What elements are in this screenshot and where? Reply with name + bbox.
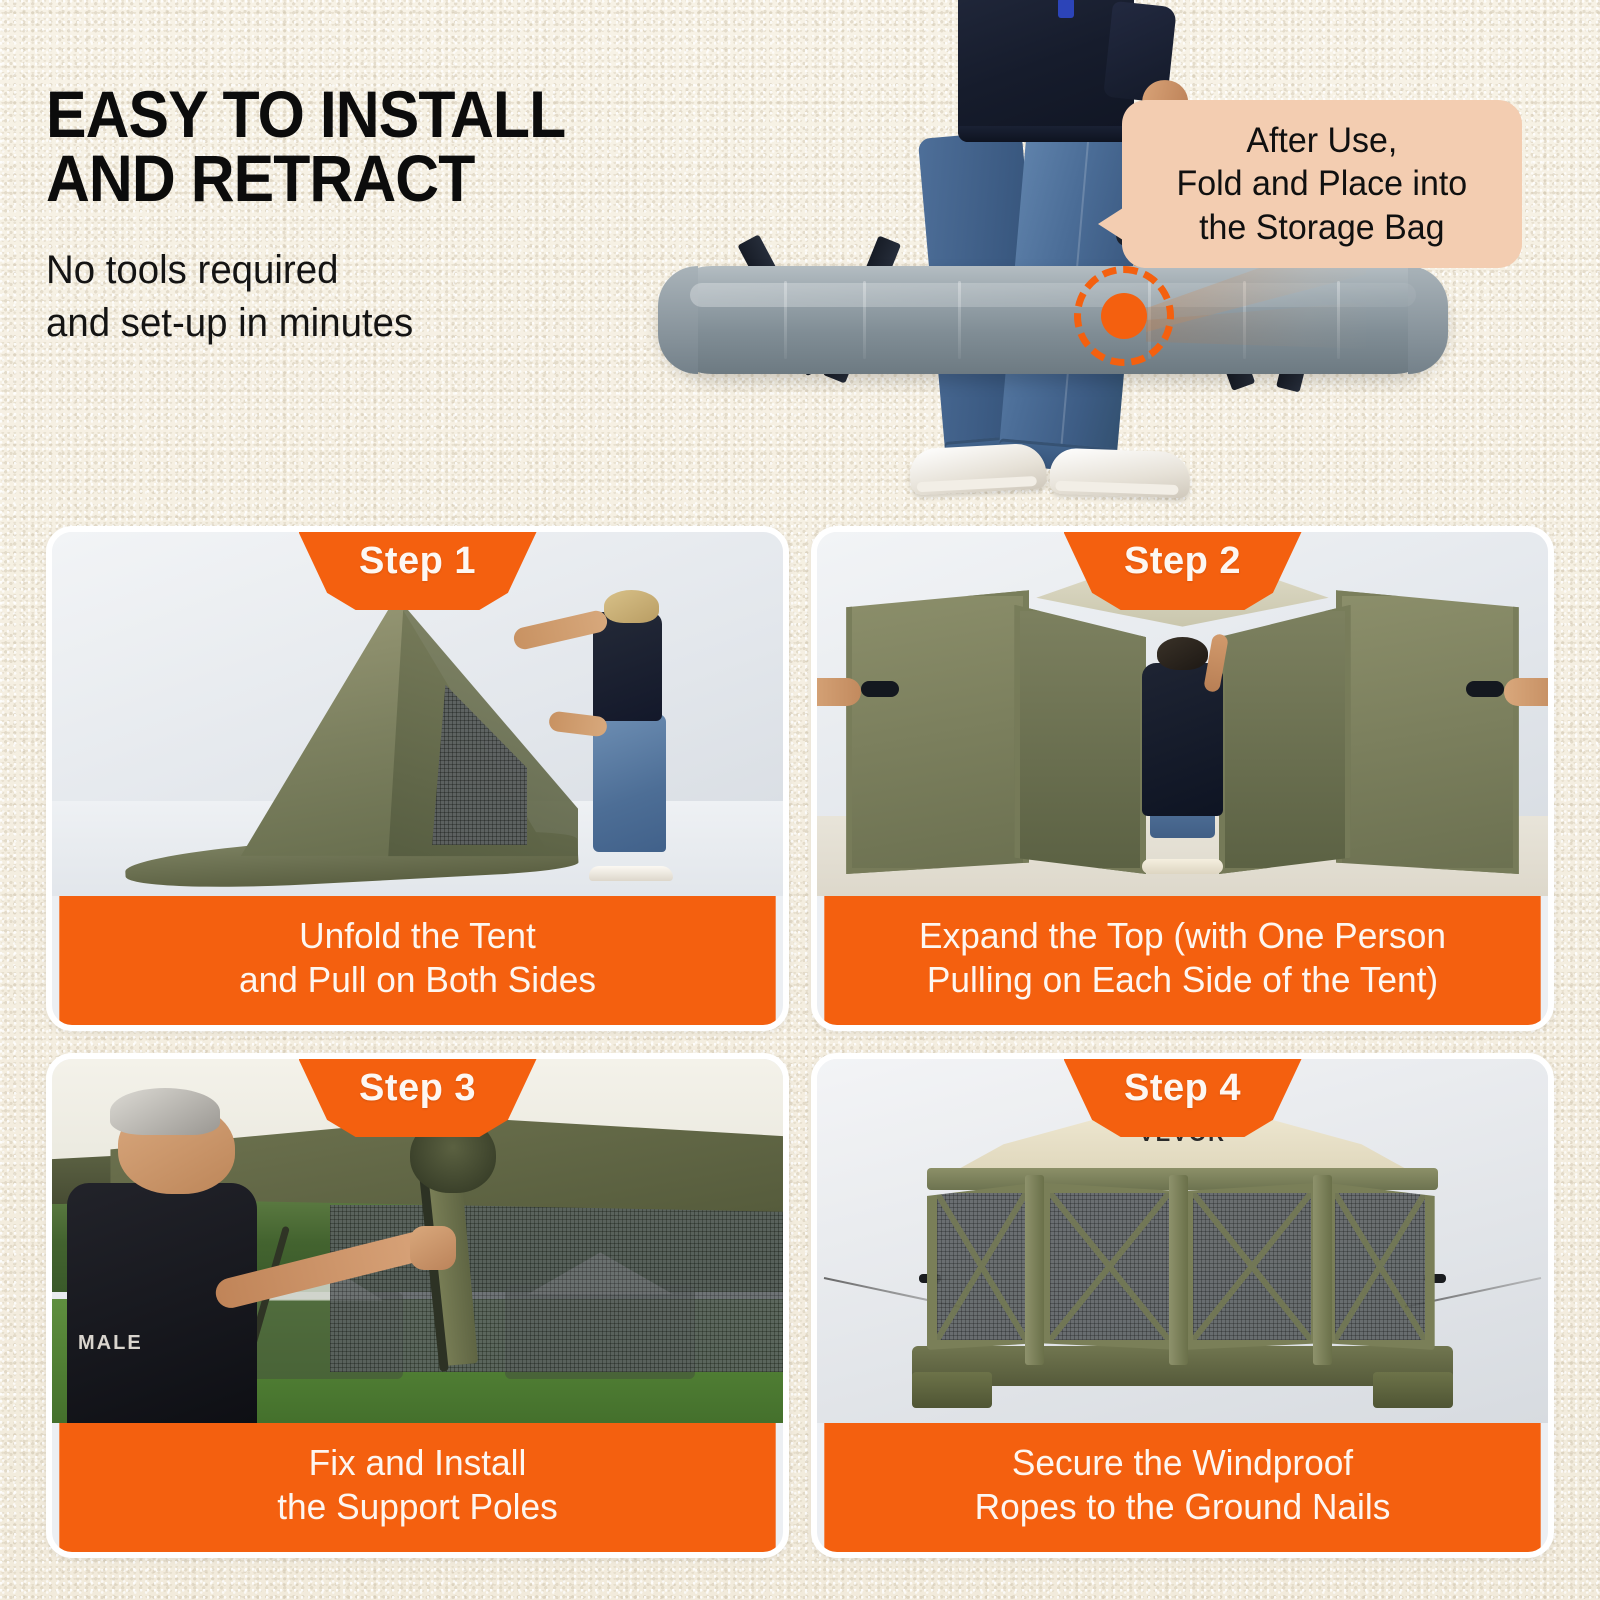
corner-post-mid [1169, 1175, 1188, 1364]
step-card-2[interactable]: Step 2 Expand the Top (with One Person P… [811, 526, 1554, 1031]
subhead-line-2: and set-up in minutes [46, 297, 756, 350]
step-3-caption-line-1: Fix and Install [77, 1441, 758, 1486]
infographic-page: EASY TO INSTALL AND RETRACT No tools req… [0, 0, 1600, 1600]
tent-pull-handle-right [1466, 681, 1504, 697]
callout-line-2: Fold and Place into [1177, 162, 1468, 205]
headline-line-2: AND RETRACT [46, 146, 727, 210]
shirt-logo-patch [1058, 0, 1074, 18]
callout-line-1: After Use, [1177, 119, 1468, 162]
step-card-3[interactable]: MALE Step 3 Fix and Install the Support … [46, 1053, 789, 1558]
tent-panel-left-outer [846, 590, 1029, 874]
person-head [1157, 637, 1208, 670]
wall-frame [927, 1183, 1037, 1350]
step-2-badge-label: Step 2 [1124, 540, 1241, 583]
bag-end-right [1408, 266, 1448, 374]
step-4-caption-line-2: Ropes to the Ground Nails [842, 1485, 1523, 1530]
shirt-text: MALE [78, 1332, 143, 1355]
tent-wall-4 [1325, 1183, 1435, 1350]
step-3-badge-label: Step 3 [359, 1067, 476, 1110]
tent-mesh-wall [330, 1205, 783, 1372]
person-shoes [589, 866, 673, 881]
tent-wall-1 [927, 1183, 1037, 1350]
step-1-photo: Step 1 [52, 532, 783, 896]
tent-wall-2 [1040, 1183, 1179, 1350]
sneaker-back [909, 442, 1047, 495]
corner-post-right [1313, 1175, 1332, 1364]
step-4-caption: Secure the Windproof Ropes to the Ground… [824, 1423, 1540, 1552]
wall-frame [1183, 1183, 1322, 1350]
headline-line-1: EASY TO INSTALL [46, 82, 727, 146]
person-hand-gripping-pole [410, 1226, 456, 1270]
subhead-line-1: No tools required [46, 244, 756, 297]
corner-post-left [1025, 1175, 1044, 1364]
tent-panel-right-outer [1336, 590, 1519, 874]
tent-pull-handle-left [861, 681, 899, 697]
step-3-caption: Fix and Install the Support Poles [59, 1423, 775, 1552]
step-3-caption-line-2: the Support Poles [77, 1485, 758, 1530]
bag-wrinkle [863, 281, 866, 359]
step-4-caption-line-1: Secure the Windproof [842, 1441, 1523, 1486]
tent-wall-3 [1183, 1183, 1322, 1350]
step-2-caption-line-2: Pulling on Each Side of the Tent) [842, 958, 1523, 1003]
bag-wrinkle [958, 281, 961, 359]
wall-frame [1325, 1183, 1435, 1350]
step-3-photo: MALE Step 3 [52, 1059, 783, 1423]
tent-panel-right-inner [1219, 605, 1351, 874]
target-marker-icon [1070, 262, 1178, 370]
step-1-caption-line-2: and Pull on Both Sides [77, 958, 758, 1003]
step-2-caption: Expand the Top (with One Person Pulling … [824, 896, 1540, 1025]
headline-block: EASY TO INSTALL AND RETRACT No tools req… [46, 82, 786, 350]
step-1-badge-label: Step 1 [359, 540, 476, 583]
helper-hand-right [1504, 678, 1548, 706]
storage-bag-callout: After Use, Fold and Place into the Stora… [1122, 100, 1522, 268]
step-1-caption: Unfold the Tent and Pull on Both Sides [59, 896, 775, 1025]
person-jeans [593, 714, 666, 852]
person-grey-hair [110, 1088, 220, 1135]
marker-dot-icon [1101, 293, 1147, 339]
step-2-caption-line-1: Expand the Top (with One Person [842, 914, 1523, 959]
tent-corner-flap-right [1373, 1372, 1453, 1408]
step-1-caption-line-1: Unfold the Tent [77, 914, 758, 959]
step-4-photo: VEVOR [817, 1059, 1548, 1423]
tent-corner-flap-left [912, 1372, 992, 1408]
callout-line-3: the Storage Bag [1177, 206, 1468, 249]
step-4-badge-label: Step 4 [1124, 1067, 1241, 1110]
step-1-badge: Step 1 [299, 532, 537, 610]
person-blonde-hair [604, 590, 660, 623]
tent-panel-left-inner [1014, 605, 1146, 874]
step-card-1[interactable]: Step 1 Unfold the Tent and Pull on Both … [46, 526, 789, 1031]
sneaker-front [1049, 448, 1191, 499]
step-2-photo: Step 2 [817, 532, 1548, 896]
step-card-4[interactable]: VEVOR [811, 1053, 1554, 1558]
person-shoes [1142, 859, 1222, 874]
step-cards-grid: Step 1 Unfold the Tent and Pull on Both … [46, 526, 1554, 1558]
wall-frame [1040, 1183, 1179, 1350]
callout-text: After Use, Fold and Place into the Stora… [1177, 119, 1468, 249]
helper-hand-left [817, 678, 861, 706]
